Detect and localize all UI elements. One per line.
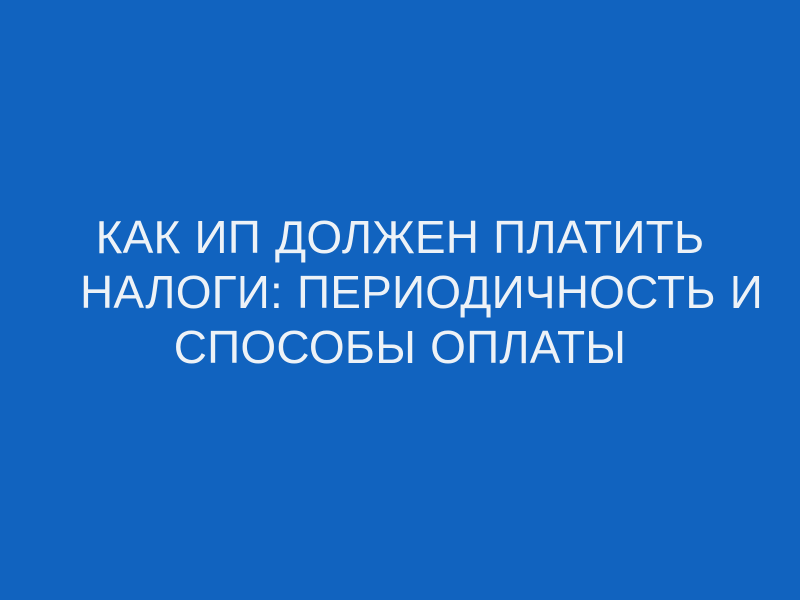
page-title-line-2: НАЛОГИ: ПЕРИОДИЧНОСТЬ И [80, 265, 720, 320]
hero-title-block: КАК ИП ДОЛЖЕН ПЛАТИТЬ НАЛОГИ: ПЕРИОДИЧНО… [80, 210, 720, 375]
page-title-line-1: КАК ИП ДОЛЖЕН ПЛАТИТЬ [80, 210, 720, 265]
page-title-line-3: СПОСОБЫ ОПЛАТЫ [80, 320, 720, 375]
hero-card: КАК ИП ДОЛЖЕН ПЛАТИТЬ НАЛОГИ: ПЕРИОДИЧНО… [0, 0, 800, 600]
page-title: КАК ИП ДОЛЖЕН ПЛАТИТЬ НАЛОГИ: ПЕРИОДИЧНО… [80, 210, 720, 375]
